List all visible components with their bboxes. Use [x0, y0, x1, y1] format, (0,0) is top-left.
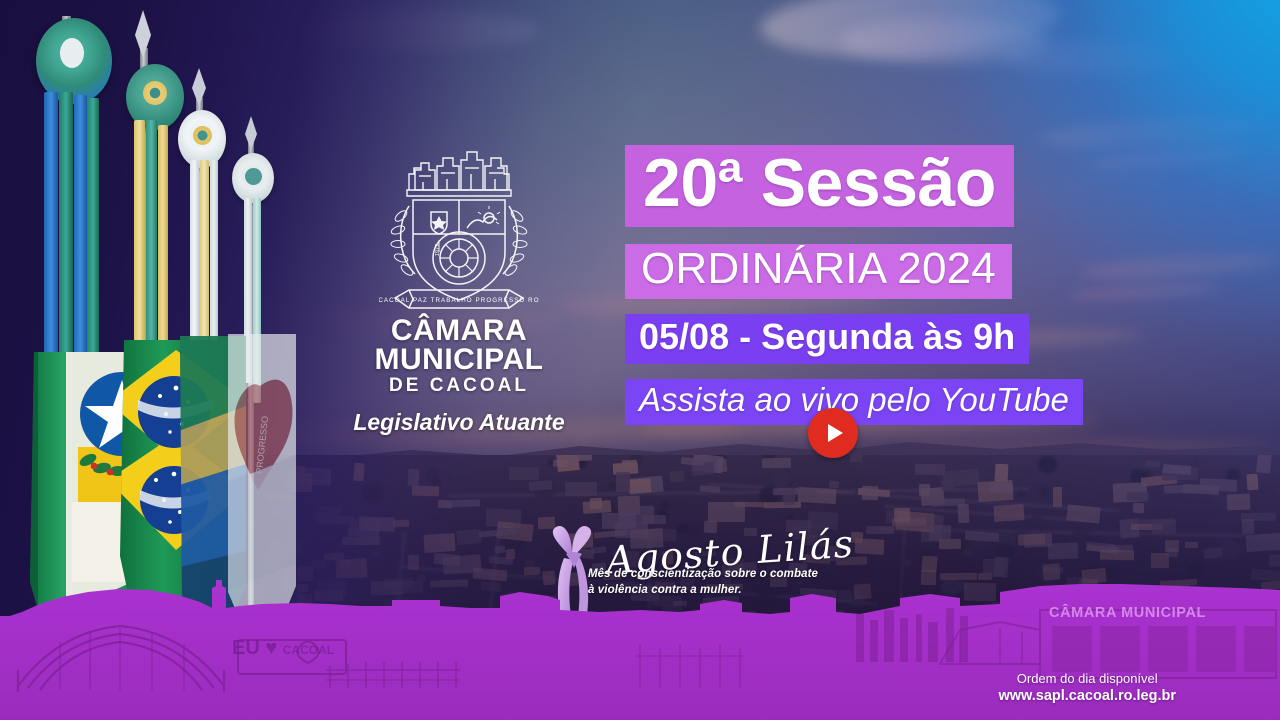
session-live-text: Assista ao vivo pelo YouTube — [625, 379, 1083, 425]
footer-note-line: Ordem do dia disponível — [998, 670, 1176, 688]
session-title: 20ª Sessão — [625, 145, 1014, 227]
monument-city-text: CACOAL — [283, 643, 334, 657]
finial-icon — [130, 10, 156, 58]
org-tagline: Legislativo Atuante — [336, 409, 582, 436]
finial-icon — [188, 68, 210, 106]
emblem-motto: CACOAL PAZ TRABALHO PROGRESSO RO — [379, 297, 539, 304]
session-datetime: 05/08 - Segunda às 9h — [625, 314, 1029, 364]
heart-icon: ♥ — [265, 637, 277, 659]
announcement-block: 20ª Sessão ORDINÁRIA 2024 05/08 - Segund… — [625, 145, 1083, 425]
finial-icon — [241, 116, 261, 150]
session-subtitle: ORDINÁRIA 2024 — [625, 244, 1012, 299]
coat-of-arms-icon: CACOAL PAZ TRABALHO PROGRESSO RO 1977 — [379, 148, 539, 316]
footer-url[interactable]: www.sapl.cacoal.ro.leg.br — [998, 687, 1176, 706]
monument-label: EU ♥ CACOAL — [232, 637, 334, 660]
org-line-2: MUNICIPAL — [336, 345, 582, 374]
emblem-year: 1977 — [435, 244, 441, 256]
youtube-play-icon[interactable] — [808, 408, 858, 458]
footer-note: Ordem do dia disponível www.sapl.cacoal.… — [998, 670, 1176, 706]
banner-canvas: PROGRESSO — [0, 0, 1280, 720]
institution-logo: CACOAL PAZ TRABALHO PROGRESSO RO 1977 CÂ… — [336, 148, 582, 418]
organization-name: CÂMARA MUNICIPAL DE CACOAL — [336, 316, 582, 395]
monument-eu-text: EU — [232, 637, 260, 659]
org-line-3: DE CACOAL — [336, 377, 582, 396]
building-label: CÂMARA MUNICIPAL — [1049, 605, 1206, 621]
org-line-1: CÂMARA — [336, 316, 582, 345]
play-triangle-icon — [828, 424, 843, 442]
